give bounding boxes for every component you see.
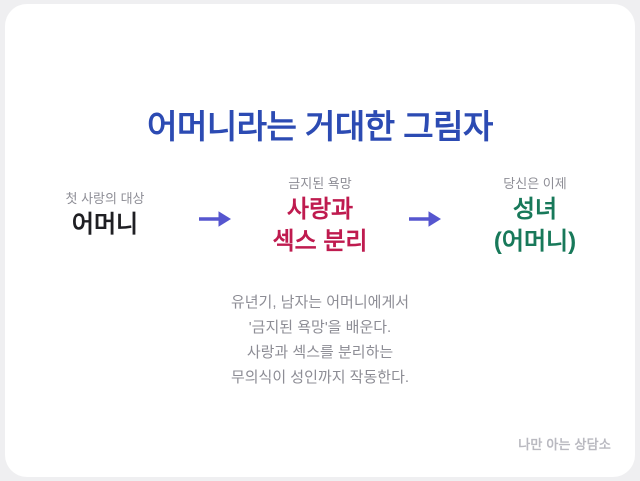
body-line-3: 사랑과 섹스를 분리하는: [5, 340, 635, 365]
flow-step-2-kicker: 금지된 욕망: [288, 174, 351, 193]
flow-step-1: 첫 사랑의 대상 어머니: [20, 174, 190, 240]
arrow-right-icon: [408, 208, 442, 230]
brand-watermark: 나만 아는 상담소: [518, 434, 611, 453]
body-line-4: 무의식이 성인까지 작동한다.: [5, 365, 635, 390]
flow-step-1-kicker: 첫 사랑의 대상: [66, 189, 145, 208]
flow-step-2-headline-line-1: 사랑과: [287, 195, 353, 225]
page-title: 어머니라는 거대한 그림자: [5, 100, 635, 148]
flow-step-3-kicker: 당신은 이제: [503, 174, 566, 193]
flow-step-3-headline-line-2: (어머니): [494, 227, 576, 257]
flow-step-1-headline-line-1: 어머니: [72, 210, 138, 240]
body-paragraph: 유년기, 남자는 어머니에게서 '금지된 욕망'을 배운다. 사랑과 섹스를 분…: [5, 290, 635, 390]
flow-step-2: 금지된 욕망 사랑과 섹스 분리: [240, 174, 400, 257]
flow-step-3: 당신은 이제 성녀 (어머니): [450, 174, 620, 257]
body-line-1: 유년기, 남자는 어머니에게서: [5, 290, 635, 315]
body-line-2: '금지된 욕망'을 배운다.: [5, 315, 635, 340]
flow-arrow-2: [400, 174, 450, 230]
flow-step-2-headline-line-2: 섹스 분리: [273, 227, 368, 257]
flow-arrow-1: [190, 174, 240, 230]
flow-step-3-headline-line-1: 성녀: [513, 195, 557, 225]
flow-diagram: 첫 사랑의 대상 어머니 금지된 욕망 사랑과 섹스 분리 당신은 이제: [5, 174, 635, 274]
arrow-right-icon: [198, 208, 232, 230]
info-card: 어머니라는 거대한 그림자 첫 사랑의 대상 어머니 금지된 욕망 사랑과 섹스…: [5, 4, 635, 477]
